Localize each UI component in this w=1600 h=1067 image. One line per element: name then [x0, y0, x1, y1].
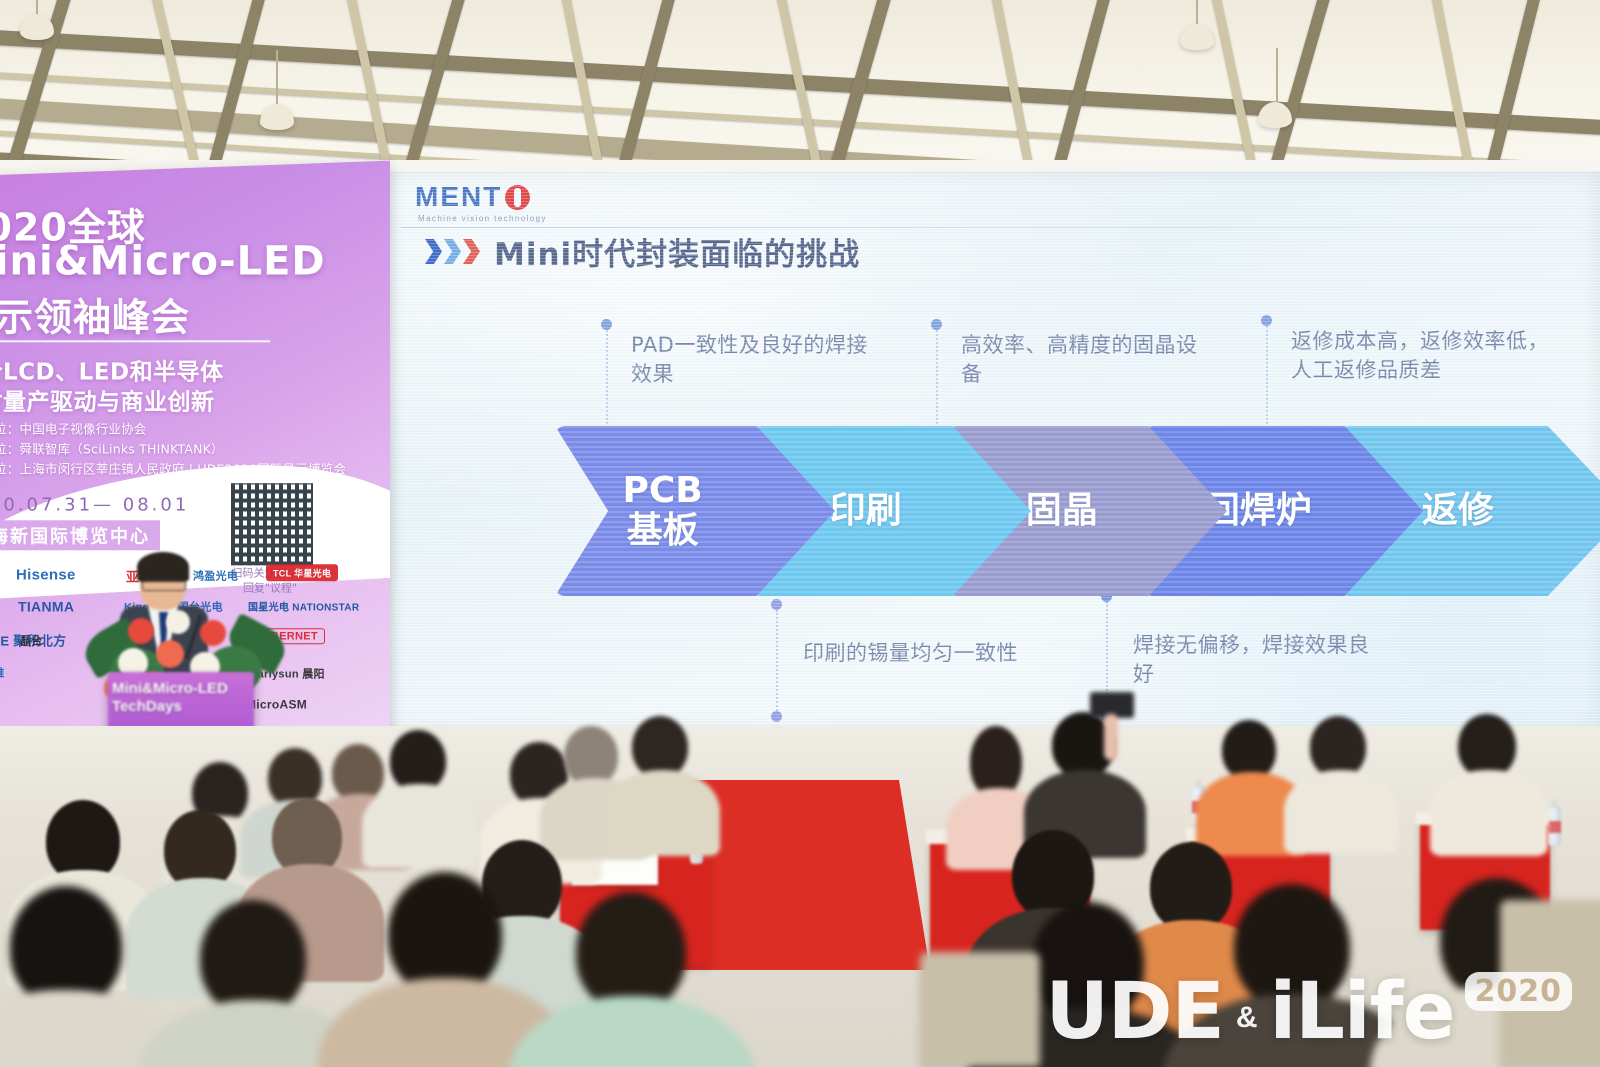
banner-organizer-1: 指导单位：中国电子视像行业协会	[0, 418, 147, 437]
presentation-slide: MENT Machine vision technology Mini时代封装面…	[385, 171, 1600, 731]
callout-line-4	[776, 610, 778, 714]
mento-logo: MENT Machine vision technology	[415, 183, 547, 223]
callout-line-2	[936, 330, 938, 436]
title-chevrons-icon	[425, 239, 480, 264]
callout-line-3	[1266, 326, 1268, 440]
banner-divider	[0, 340, 270, 342]
callout-dot-1	[601, 319, 612, 330]
callout-top-2: 高效率、高精度的固晶设备	[961, 331, 1213, 389]
podium-sign-line1: Mini&Micro-LED	[112, 680, 252, 698]
slide-title-row: Mini时代封装面临的挑战	[425, 229, 860, 274]
hall-lamp	[260, 104, 294, 130]
callout-dot-4	[771, 599, 782, 610]
sponsor-logo: ETEK 天维	[0, 664, 5, 680]
sponsor-logo: TCL 华星光电	[266, 564, 338, 581]
header-divider	[401, 227, 1581, 228]
callout-bottom-1: 印刷的锡量均匀一致性	[803, 639, 1051, 668]
callout-line-1	[606, 330, 608, 436]
logo-tagline: Machine vision technology	[418, 214, 547, 223]
podium-sign-line2: TechDays	[112, 698, 252, 716]
callout-dot-3	[1261, 315, 1272, 326]
banner-venue: 上海新国际博览中心	[0, 520, 160, 550]
sponsor-logo: Hisense	[16, 566, 76, 583]
logo-o-mark	[505, 185, 530, 210]
hall-lamp	[20, 14, 54, 40]
banner-organizer-2: 主办单位：舜联智库（SciLinks THINKTANK）	[0, 438, 224, 457]
chair	[920, 952, 1040, 1067]
process-flow-diagram: PCB基板 印刷 固晶 回焊炉 返修	[555, 426, 1575, 596]
slide-title: Mini时代封装面临的挑战	[494, 229, 860, 274]
banner-title-line3: 显示领袖峰会	[0, 286, 190, 341]
chair	[1500, 900, 1600, 1067]
callout-dot-2	[931, 319, 942, 330]
banner-subtitle-line2: 探讨量产驱动与商业创新	[0, 382, 215, 416]
conference-photo: MENT Machine vision technology Mini时代封装面…	[0, 0, 1600, 1067]
banner-subtitle-line1: 整合LCD、LED和半导体	[0, 352, 224, 386]
callout-top-3: 返修成本高，返修效率低，人工返修品质差	[1291, 327, 1549, 385]
hall-lamp	[1180, 24, 1214, 50]
callout-bottom-2: 焊接无偏移，焊接效果良好	[1133, 631, 1389, 689]
banner-date: 2020.07.31— 08.01	[0, 494, 189, 515]
logo-wordmark: MENT	[415, 183, 502, 211]
callout-dot-4b	[771, 711, 782, 722]
banner-title-line2: Mini&Micro-LED	[0, 238, 326, 284]
sponsor-logo: 晶台	[20, 632, 43, 648]
qr-code	[228, 480, 316, 568]
callout-top-1: PAD一致性及良好的焊接效果	[631, 331, 883, 389]
sponsor-logo: TIANMA	[18, 598, 74, 614]
podium-sign: Mini&Micro-LED TechDays	[112, 680, 252, 716]
water-bottle	[1548, 806, 1561, 846]
